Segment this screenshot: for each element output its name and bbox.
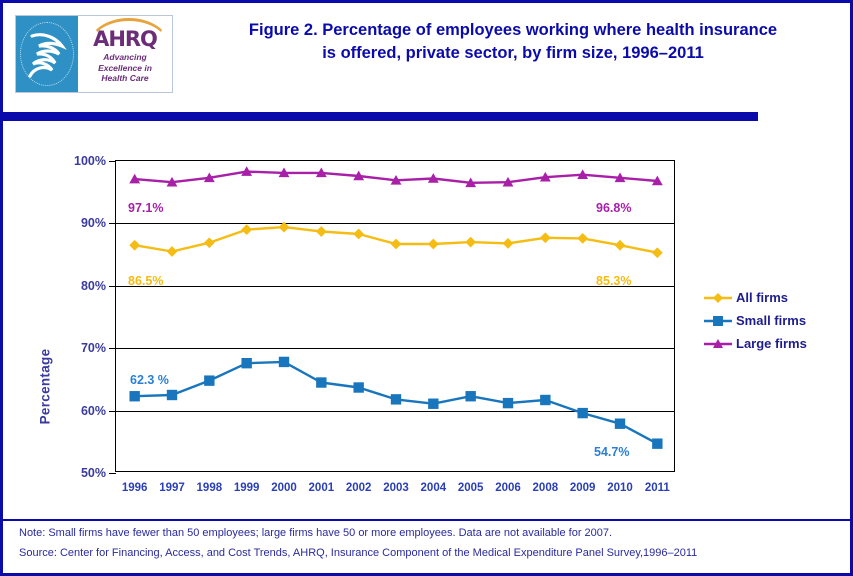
y-axis-tick-label: 100% <box>60 154 106 168</box>
data-point-marker <box>615 419 625 429</box>
legend-item-large-firms[interactable]: Large firms <box>703 332 833 355</box>
x-axis-tick-label: 2002 <box>346 482 372 494</box>
ahrq-wordmark: AHRQ Advancing Excellence in Health Care <box>78 16 172 92</box>
data-point-marker <box>204 237 215 248</box>
footer-note: Note: Small firms have fewer than 50 emp… <box>19 527 839 540</box>
x-axis-tick-label: 2001 <box>309 482 335 494</box>
data-point-marker <box>615 240 626 251</box>
ahrq-tagline-line3: Health Care <box>98 73 152 84</box>
legend-label: All firms <box>736 290 788 305</box>
data-label: 86.5% <box>128 274 163 288</box>
x-axis-tick-label: 1998 <box>197 482 223 494</box>
hhs-seal-icon <box>16 16 78 92</box>
footer-source: Source: Center for Financing, Access, an… <box>19 547 839 560</box>
data-point-marker <box>428 399 438 409</box>
footer-divider <box>3 519 850 521</box>
data-point-marker <box>540 232 551 243</box>
data-label: 97.1% <box>128 201 163 215</box>
y-axis-tick-label: 80% <box>60 279 106 293</box>
data-point-marker <box>391 394 401 404</box>
header-divider <box>3 112 758 121</box>
data-point-marker <box>241 224 252 235</box>
data-point-marker <box>652 247 663 258</box>
legend-marker-icon <box>703 291 733 305</box>
figure-title-line1: Figure 2. Percentage of employees workin… <box>183 19 843 42</box>
data-point-marker <box>316 377 326 387</box>
y-axis-tick-mark <box>109 223 116 224</box>
y-axis-tick-mark <box>109 348 116 349</box>
data-point-marker <box>167 246 178 257</box>
data-point-marker <box>428 239 439 250</box>
y-axis-tick-mark <box>109 473 116 474</box>
hhs-bird-icon <box>22 24 72 86</box>
data-point-marker <box>503 398 513 408</box>
y-axis-tick-mark <box>109 411 116 412</box>
data-point-marker <box>465 237 476 248</box>
y-axis-tick-label: 90% <box>60 216 106 230</box>
data-point-marker <box>577 233 588 244</box>
x-axis-tick-label: 1999 <box>234 482 260 494</box>
series-layer <box>116 161 676 473</box>
y-axis-tick-mark <box>109 286 116 287</box>
legend-label: Small firms <box>736 313 806 328</box>
data-point-marker <box>129 391 139 401</box>
legend-item-small-firms[interactable]: Small firms <box>703 309 833 332</box>
y-axis-title: Percentage <box>38 327 53 447</box>
x-axis-tick-label: 2008 <box>533 482 559 494</box>
data-point-marker <box>465 391 475 401</box>
header: AHRQ Advancing Excellence in Health Care… <box>3 3 850 101</box>
data-point-marker <box>204 375 214 385</box>
x-axis-tick-label: 2004 <box>421 482 447 494</box>
x-axis-tick-label: 2005 <box>458 482 484 494</box>
legend-item-all-firms[interactable]: All firms <box>703 286 833 309</box>
data-point-marker <box>353 229 364 240</box>
figure-title: Figure 2. Percentage of employees workin… <box>183 19 843 65</box>
legend-label: Large firms <box>736 336 807 351</box>
x-axis-tick-label: 2003 <box>383 482 409 494</box>
data-point-marker <box>503 238 514 249</box>
x-axis-tick-label: 2009 <box>570 482 596 494</box>
data-label: 96.8% <box>596 201 631 215</box>
data-point-marker <box>652 438 662 448</box>
data-point-marker <box>353 382 363 392</box>
legend-marker-icon <box>703 314 733 328</box>
y-axis-tick-mark <box>109 161 116 162</box>
data-point-marker <box>129 240 140 251</box>
data-point-marker <box>279 222 290 233</box>
data-label: 54.7% <box>594 445 629 459</box>
figure-page: AHRQ Advancing Excellence in Health Care… <box>0 0 853 576</box>
figure-title-line2: is offered, private sector, by firm size… <box>183 42 843 65</box>
data-point-marker <box>391 239 402 250</box>
y-axis-tick-label: 60% <box>60 404 106 418</box>
x-axis-tick-label: 2000 <box>271 482 297 494</box>
data-point-marker <box>279 357 289 367</box>
x-axis-tick-label: 2011 <box>645 482 670 494</box>
ahrq-hhs-logo: AHRQ Advancing Excellence in Health Care <box>15 15 173 93</box>
y-axis-tick-label: 50% <box>60 466 106 480</box>
footer-notes: Note: Small firms have fewer than 50 emp… <box>19 527 839 567</box>
ahrq-tagline-line1: Advancing <box>98 52 152 63</box>
data-label: 62.3 % <box>130 373 169 387</box>
ahrq-arc-icon <box>88 18 170 47</box>
legend-marker-icon <box>703 337 733 351</box>
x-axis-tick-label: 2010 <box>607 482 633 494</box>
ahrq-tagline: Advancing Excellence in Health Care <box>98 52 152 84</box>
data-point-marker <box>540 395 550 405</box>
data-point-marker <box>316 226 327 237</box>
plot-area: 50%60%70%80%90%100%199619971998199920002… <box>115 160 675 472</box>
x-axis-tick-label: 1996 <box>122 482 148 494</box>
x-axis-tick-label: 2006 <box>495 482 521 494</box>
data-point-marker <box>167 390 177 400</box>
data-point-marker <box>241 358 251 368</box>
ahrq-tagline-line2: Excellence in <box>98 63 152 74</box>
x-axis-tick-label: 1997 <box>159 482 185 494</box>
y-axis-tick-label: 70% <box>60 341 106 355</box>
chart-legend: All firmsSmall firmsLarge firms <box>703 286 833 355</box>
data-point-marker <box>577 408 587 418</box>
data-label: 85.3% <box>596 274 631 288</box>
